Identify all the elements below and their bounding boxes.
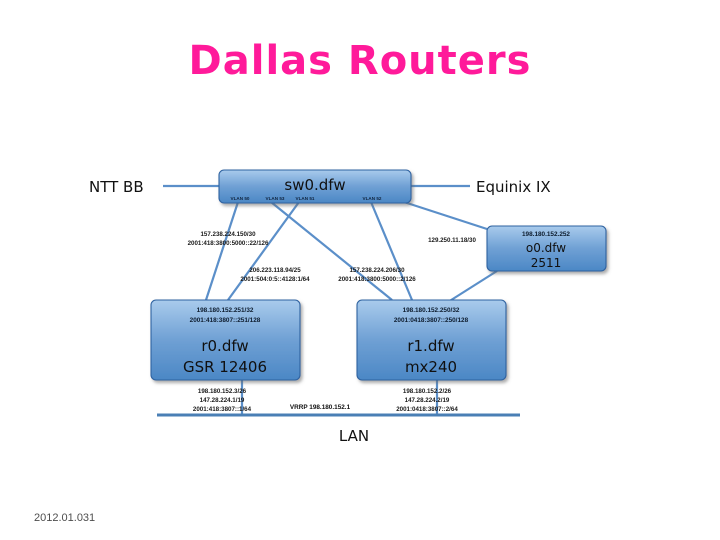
vlan-label-53: VLAN 53 [266, 196, 285, 201]
ntt-uplink-ipv4: 157.238.224.150/30 [200, 231, 256, 238]
r1-model: mx240 [405, 358, 457, 376]
vrrp-label: VRRP 198.180.152.1 [290, 404, 351, 411]
edge-label-ntt-transit: 157.238.224.206/30 2001:418:3800:5000::2… [338, 267, 416, 283]
node-sw0-dfw[interactable]: sw0.dfw VLAN 50 VLAN 53 VLAN 51 VLAN 52 [219, 170, 411, 203]
node-r1-dfw[interactable]: 198.180.152.250/32 2001:0418:3807::250/1… [357, 300, 506, 380]
lan-label: LAN [339, 427, 369, 445]
vlan-label-51: VLAN 51 [296, 196, 315, 201]
ntt-transit-ipv4: 157.238.224.206/30 [349, 267, 405, 274]
link-vlan52-r1 [371, 202, 412, 300]
edge-label-equinix-ix: 206.223.118.94/25 2001:504:0:5::4128:1/6… [240, 267, 310, 283]
lan-right-ipv4-a: 198.180.152.2/26 [403, 388, 452, 395]
o0-ip: 198.180.152.252 [522, 231, 570, 238]
network-diagram: NTT BB Equinix IX sw0.dfw VLAN 50 VLAN 5… [0, 0, 720, 540]
link-vlan50-r0 [206, 202, 238, 300]
r1-ipv4: 198.180.152.250/32 [403, 307, 460, 314]
footer-date: 2012.01.031 [34, 512, 95, 524]
node-o0-dfw[interactable]: 198.180.152.252 o0.dfw 2511 [487, 226, 606, 271]
r1-name: r1.dfw [407, 337, 454, 355]
equinix-ipv6: 2001:504:0:5::4128:1/64 [240, 276, 310, 283]
o0-name: o0.dfw [526, 241, 566, 255]
link-switch-o0 [404, 202, 487, 229]
r0-model: GSR 12406 [183, 358, 267, 376]
node-r0-dfw[interactable]: 198.180.152.251/32 2001:418:3807::251/12… [151, 300, 300, 380]
lan-left-addresses: 198.180.152.3/26 147.28.224.1/19 2001:41… [193, 388, 252, 413]
lan-left-ipv4-b: 147.28.224.1/19 [200, 397, 245, 404]
lan-left-ipv6: 2001:418:3807::1/64 [193, 406, 252, 413]
lan-right-addresses: 198.180.152.2/26 147.28.224.2/19 2001:04… [396, 388, 458, 413]
vlan-label-50: VLAN 50 [231, 196, 250, 201]
peer-label-ntt: NTT BB [89, 178, 144, 196]
slide-canvas: Dallas Routers [0, 0, 720, 540]
lan-right-ipv4-b: 147.28.224.2/19 [405, 397, 450, 404]
lan-left-ipv4-a: 198.180.152.3/26 [198, 388, 247, 395]
ntt-uplink-ipv6: 2001:418:3800:5000::22/126 [188, 240, 269, 247]
equinix-ipv4: 206.223.118.94/25 [249, 267, 301, 274]
r0-name: r0.dfw [201, 337, 248, 355]
r1-ipv6: 2001:0418:3807::250/128 [394, 317, 469, 324]
r0-ipv6: 2001:418:3807::251/128 [190, 317, 261, 324]
link-vlan51-r0 [228, 202, 299, 300]
o0-model: 2511 [531, 256, 562, 270]
vlan-label-52: VLAN 52 [363, 196, 382, 201]
edge-label-ntt-uplink: 157.238.224.150/30 2001:418:3800:5000::2… [188, 231, 269, 247]
peer-label-equinix: Equinix IX [476, 178, 551, 196]
r0-ipv4: 198.180.152.251/32 [197, 307, 254, 314]
ntt-transit-ipv6: 2001:418:3800:5000::2/126 [338, 276, 416, 283]
ntt-peer-ipv4: 129.250.11.18/30 [428, 237, 476, 244]
lan-right-ipv6: 2001:0418:3807::2/64 [396, 406, 458, 413]
switch-name: sw0.dfw [284, 176, 345, 194]
link-o0-r1 [448, 271, 497, 302]
